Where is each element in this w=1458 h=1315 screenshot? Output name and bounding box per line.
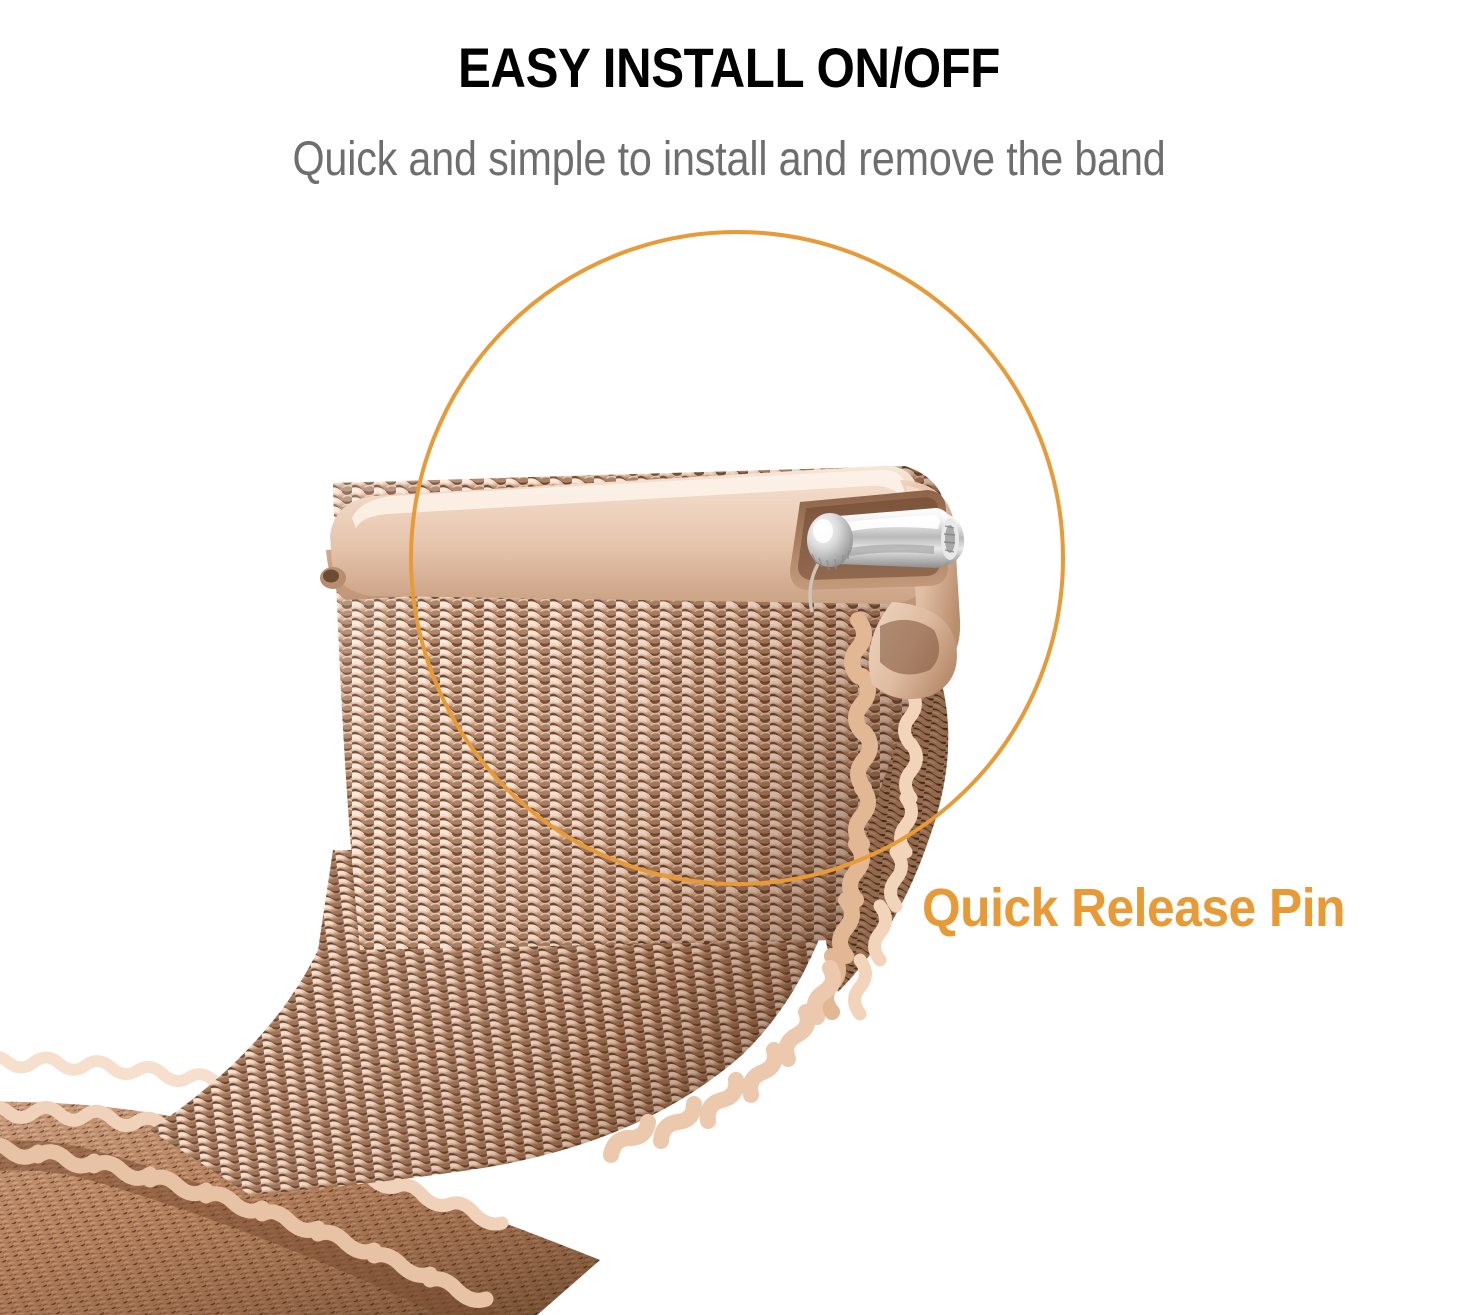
product-feature-image: EASY INSTALL ON/OFF Quick and simple to …	[0, 0, 1458, 1315]
product-illustration	[0, 150, 1458, 1315]
page-title: EASY INSTALL ON/OFF	[87, 38, 1370, 98]
annotation-label: Quick Release Pin	[922, 878, 1345, 938]
